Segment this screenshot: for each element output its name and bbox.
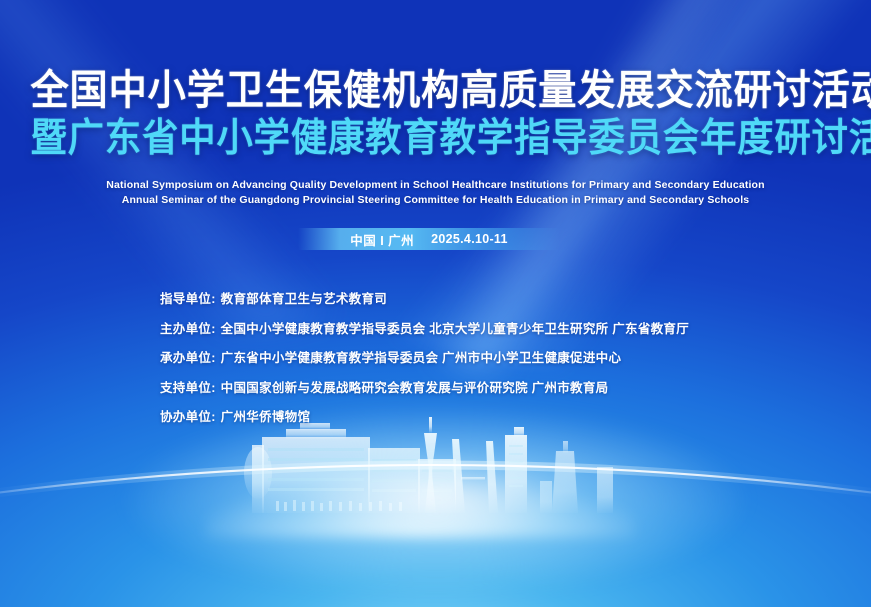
organization-value: 广州华侨博物馆: [221, 406, 311, 425]
organization-row: 承办单位: 广东省中小学健康教育教学指导委员会 广州市中小学卫生健康促进中心: [160, 347, 820, 366]
conference-poster: 全国中小学卫生保健机构高质量发展交流研讨活动 暨广东省中小学健康教育教学指导委员…: [0, 0, 871, 607]
title-line-secondary: 暨广东省中小学健康教育教学指导委员会年度研讨活动: [30, 119, 840, 159]
school-building-silhouette: [244, 423, 456, 513]
organization-value: 中国国家创新与发展战略研究会教育发展与评价研究院 广州市教育局: [221, 377, 609, 396]
organization-value: 全国中小学健康教育教学指导委员会 北京大学儿童青少年卫生研究所 广东省教育厅: [221, 318, 689, 337]
organization-list: 指导单位: 教育部体育卫生与艺术教育司 主办单位: 全国中小学健康教育教学指导委…: [160, 288, 820, 436]
horizon-light-arc: [0, 417, 871, 607]
skyline-base-haze: [205, 483, 635, 537]
skyline-tower-stepped: [505, 427, 527, 513]
organization-row: 支持单位: 中国国家创新与发展战略研究会教育发展与评价研究院 广州市教育局: [160, 377, 820, 396]
organization-label: 支持单位:: [160, 377, 216, 396]
banner-location: 中国 I 广州: [350, 230, 414, 249]
subtitle-english-line-2: Annual Seminar of the Guangdong Provinci…: [0, 193, 871, 208]
organization-value: 教育部体育卫生与艺术教育司: [221, 288, 387, 307]
organization-row: 协办单位: 广州华侨博物馆: [160, 406, 820, 425]
banner-date: 2025.4.10-11: [431, 232, 508, 246]
organization-label: 主办单位:: [160, 318, 216, 337]
organization-label: 协办单位:: [160, 406, 216, 425]
skyline-tower-pair: [452, 439, 498, 513]
organization-label: 指导单位:: [160, 288, 216, 307]
plaza-figures: [276, 500, 402, 511]
organization-value: 广东省中小学健康教育教学指导委员会 广州市中小学卫生健康促进中心: [221, 347, 622, 366]
subtitle-english-line-1: National Symposium on Advancing Quality …: [0, 178, 871, 193]
organization-label: 承办单位:: [160, 347, 216, 366]
school-building-windows: [268, 448, 452, 492]
organization-row: 指导单位: 教育部体育卫生与艺术教育司: [160, 288, 820, 307]
skyline-tower-cluster-right: [540, 441, 613, 513]
organization-row: 主办单位: 全国中小学健康教育教学指导委员会 北京大学儿童青少年卫生研究所 广东…: [160, 318, 820, 337]
poster-title-block: 全国中小学卫生保健机构高质量发展交流研讨活动 暨广东省中小学健康教育教学指导委员…: [0, 70, 871, 159]
location-date-banner: 中国 I 广州 2025.4.10-11: [298, 228, 560, 250]
poster-subtitle-block: National Symposium on Advancing Quality …: [0, 178, 871, 208]
title-line-primary: 全国中小学卫生保健机构高质量发展交流研讨活动: [30, 70, 840, 112]
skyline-tower-grid: [509, 445, 523, 487]
